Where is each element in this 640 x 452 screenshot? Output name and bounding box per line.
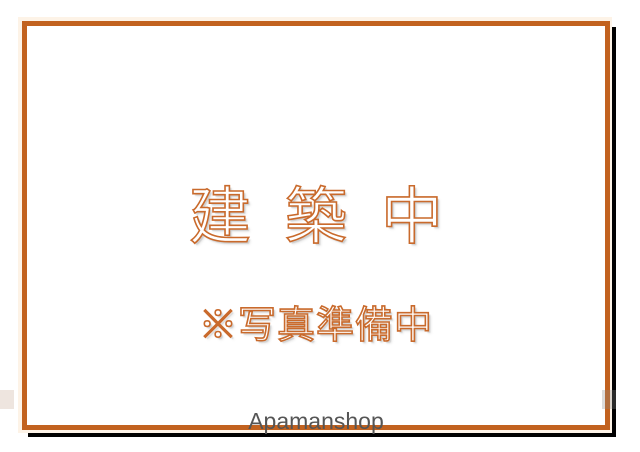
brand-name-apamanshop: Apamanshop	[27, 410, 605, 433]
right-edge-artifact	[602, 390, 616, 409]
frame-inner-canvas: 建築中 ※写真準備中 Apamanshop	[27, 26, 605, 425]
image-placeholder-card: 建築中 ※写真準備中 Apamanshop	[0, 0, 640, 452]
headline-under-construction: 建築中	[27, 186, 605, 248]
subline-photo-in-preparation: ※写真準備中	[27, 306, 605, 344]
left-edge-artifact	[0, 390, 14, 409]
orange-photo-frame: 建築中 ※写真準備中 Apamanshop	[22, 21, 610, 430]
